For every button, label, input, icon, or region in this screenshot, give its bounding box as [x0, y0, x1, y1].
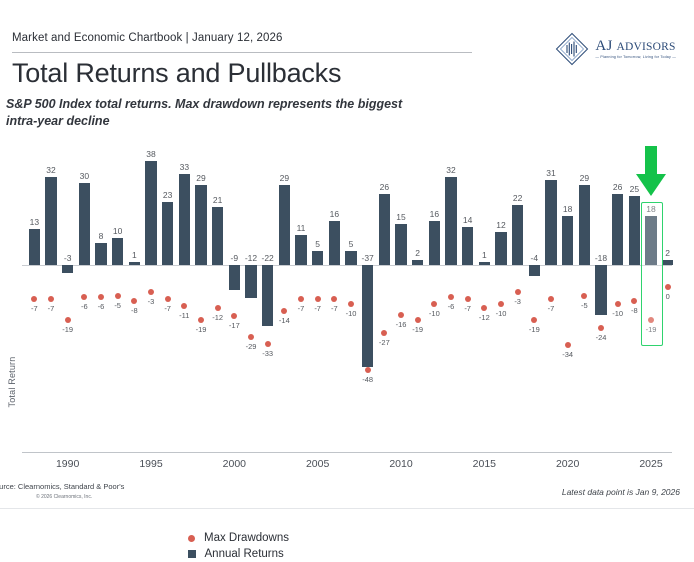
bar-2009 [379, 194, 390, 266]
bar-2011 [412, 260, 423, 266]
x-tick-2025: 2025 [631, 458, 671, 470]
drawdown-dot-2026 [665, 284, 671, 290]
drawdown-value-2022: -24 [586, 333, 616, 342]
bar-2010 [395, 224, 406, 265]
bar-value-2007: 5 [334, 239, 368, 249]
drawdown-dot-1990 [65, 317, 71, 323]
bar-2015 [479, 262, 490, 265]
bar-value-1989: 32 [34, 165, 68, 175]
copyright-note: © 2026 Clearnomics, Inc. [36, 494, 92, 500]
drawdown-dot-1993 [115, 293, 121, 299]
drawdown-dot-1992 [98, 294, 104, 300]
bottom-divider [0, 508, 694, 509]
drawdown-value-2003: -14 [269, 316, 299, 325]
bar-value-2013: 32 [434, 165, 468, 175]
drawdown-dot-1988 [31, 296, 37, 302]
bar-2000 [229, 265, 240, 290]
chart-plot-area: Total Return 13-732-7-3-1930-68-610-51-8… [0, 132, 694, 452]
bar-1997 [179, 174, 190, 265]
legend-item-returns: Annual Returns [186, 546, 289, 562]
bar-value-2014: 14 [451, 215, 485, 225]
bar-value-2009: 26 [367, 182, 401, 192]
bar-value-1997: 33 [167, 162, 201, 172]
bar-2008 [362, 265, 373, 367]
bar-2001 [245, 265, 256, 298]
legend-label-drawdowns: Max Drawdowns [204, 532, 289, 544]
logo-name-rest: ADVISORS [616, 41, 675, 53]
drawdown-value-1997: -11 [169, 311, 199, 320]
drawdown-value-1989: -7 [36, 304, 66, 313]
bar-1988 [29, 229, 40, 265]
chart-legend: Max Drawdowns Annual Returns [186, 530, 289, 562]
header-divider [12, 52, 472, 53]
logo-wordmark: AJ ADVISORS — Planning for Tomorrow, Liv… [595, 39, 676, 60]
chartbook-eyebrow: Market and Economic Chartbook | January … [12, 32, 532, 44]
drawdown-dot-2007 [348, 301, 354, 307]
legend-item-drawdowns: Max Drawdowns [186, 530, 289, 546]
drawdown-dot-2004 [298, 296, 304, 302]
drawdown-marker-icon [188, 535, 195, 542]
drawdown-value-2008: -48 [353, 375, 383, 384]
bar-value-2010: 15 [384, 212, 418, 222]
bar-value-1998: 29 [184, 173, 218, 183]
logo-name-lead: AJ [595, 38, 612, 54]
drawdown-dot-2009 [381, 330, 387, 336]
brand-logo: AJ ADVISORS — Planning for Tomorrow, Liv… [555, 32, 676, 66]
page-subtitle: S&P 500 Index total returns. Max drawdow… [6, 96, 436, 130]
bar-1996 [162, 202, 173, 265]
bar-2023 [612, 194, 623, 266]
bars-and-dots-layer: 13-732-7-3-1930-68-610-51-838-323-733-11… [0, 132, 694, 452]
bar-2020 [562, 216, 573, 266]
drawdown-dot-2021 [581, 293, 587, 299]
x-tick-1995: 1995 [131, 458, 171, 470]
page-title: Total Returns and Pullbacks [12, 58, 341, 89]
bar-value-1991: 30 [67, 171, 101, 181]
bar-value-2004: 11 [284, 223, 318, 233]
drawdown-value-1990: -19 [53, 325, 83, 334]
header: Market and Economic Chartbook | January … [12, 32, 532, 44]
drawdown-dot-2017 [515, 289, 521, 295]
bar-2022 [595, 265, 606, 315]
logo-name: AJ ADVISORS [595, 39, 676, 54]
highlight-box-2025 [641, 202, 663, 346]
drawdown-dot-1995 [148, 289, 154, 295]
drawdown-dot-1991 [81, 294, 87, 300]
drawdown-dot-2019 [548, 296, 554, 302]
drawdown-dot-1997 [181, 303, 187, 309]
drawdown-dot-1989 [48, 296, 54, 302]
x-tick-2010: 2010 [381, 458, 421, 470]
x-tick-1990: 1990 [48, 458, 88, 470]
drawdown-value-2018: -19 [519, 325, 549, 334]
drawdown-dot-2000 [231, 313, 237, 319]
bar-value-2003: 29 [267, 173, 301, 183]
bar-2005 [312, 251, 323, 265]
drawdown-dot-2010 [398, 312, 404, 318]
drawdown-value-2016: -10 [486, 309, 516, 318]
x-tick-2015: 2015 [464, 458, 504, 470]
latest-data-note: Latest data point is Jan 9, 2026 [562, 487, 680, 497]
drawdown-dot-2014 [465, 296, 471, 302]
source-note: Source: Clearnomics, Standard & Poor's [0, 482, 124, 491]
bar-1990 [62, 265, 73, 273]
bar-value-1993: 10 [101, 226, 135, 236]
drawdown-dot-2018 [531, 317, 537, 323]
x-tick-2020: 2020 [548, 458, 588, 470]
drawdown-value-2009: -27 [369, 338, 399, 347]
drawdown-dot-2020 [565, 342, 571, 348]
drawdown-value-2000: -17 [219, 321, 249, 330]
drawdown-value-2017: -3 [503, 297, 533, 306]
drawdown-value-1998: -19 [186, 325, 216, 334]
drawdown-dot-2005 [315, 296, 321, 302]
bar-2012 [429, 221, 440, 265]
drawdown-dot-2024 [631, 298, 637, 304]
bar-value-2017: 22 [501, 193, 535, 203]
bar-2026 [662, 260, 673, 266]
drawdown-dot-2013 [448, 294, 454, 300]
bar-1992 [95, 243, 106, 265]
bar-1994 [129, 262, 140, 265]
drawdown-dot-1999 [215, 305, 221, 311]
bar-1995 [145, 161, 156, 266]
bar-2018 [529, 265, 540, 276]
bar-2016 [495, 232, 506, 265]
logo-tagline: — Planning for Tomorrow, Living for Toda… [595, 56, 676, 60]
bar-1989 [45, 177, 56, 265]
bar-value-2006: 16 [317, 209, 351, 219]
down-arrow-icon [633, 146, 669, 198]
drawdown-dot-2001 [248, 334, 254, 340]
drawdown-value-2020: -34 [553, 350, 583, 359]
drawdown-dot-2008 [365, 367, 371, 373]
x-axis-line [22, 452, 672, 453]
legend-label-returns: Annual Returns [205, 548, 284, 560]
drawdown-dot-2002 [265, 341, 271, 347]
drawdown-value-1994: -8 [119, 306, 149, 315]
return-marker-icon [188, 550, 196, 558]
bar-1991 [79, 183, 90, 266]
x-tick-2000: 2000 [214, 458, 254, 470]
bar-value-2019: 31 [534, 168, 568, 178]
drawdown-value-2002: -33 [253, 349, 283, 358]
bar-value-2021: 29 [567, 173, 601, 183]
drawdown-dot-1996 [165, 296, 171, 302]
drawdown-dot-2022 [598, 325, 604, 331]
drawdown-value-2019: -7 [536, 304, 566, 313]
chart-slide: Market and Economic Chartbook | January … [0, 0, 694, 515]
drawdown-value-2011: -19 [403, 325, 433, 334]
drawdown-dot-2006 [331, 296, 337, 302]
diamond-logo-icon [555, 32, 589, 66]
bar-value-1999: 21 [201, 195, 235, 205]
bar-2019 [545, 180, 556, 265]
x-tick-2005: 2005 [298, 458, 338, 470]
bar-value-1995: 38 [134, 149, 168, 159]
